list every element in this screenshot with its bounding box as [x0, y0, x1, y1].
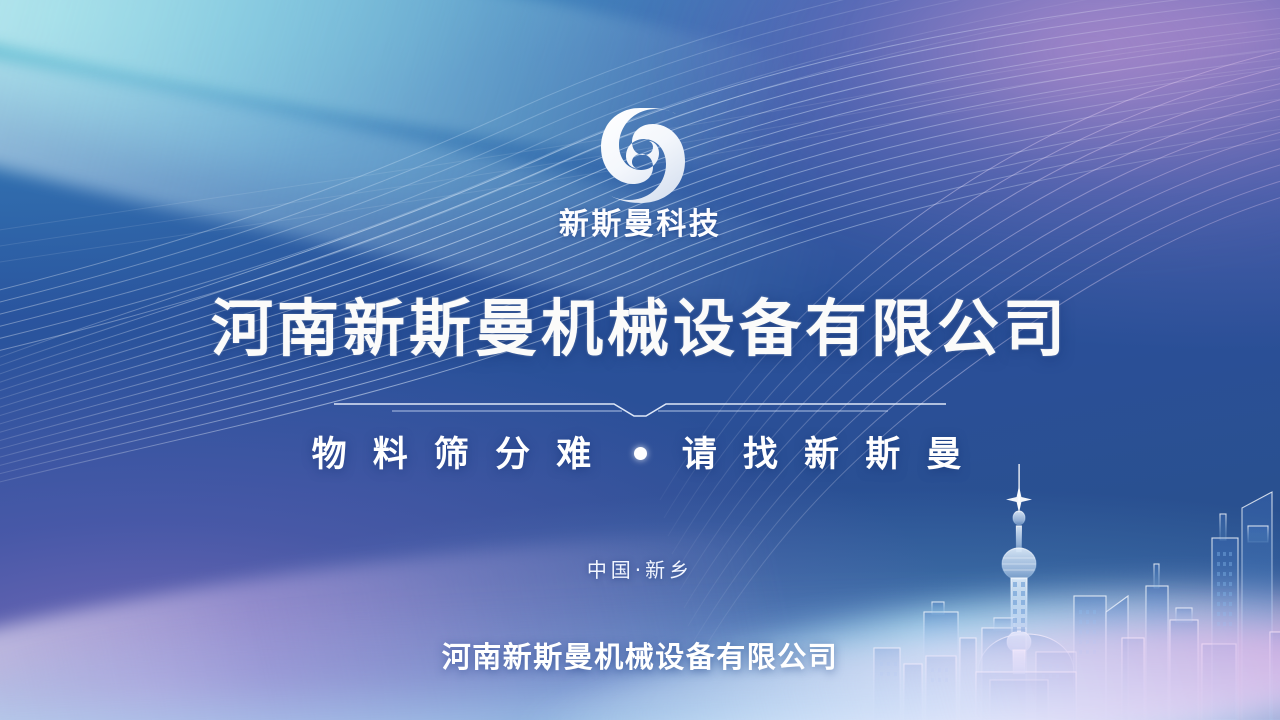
location-label: 中国·新乡	[0, 554, 1280, 583]
slide-content: 新斯曼科技 河南新斯曼机械设备有限公司 物 料 筛 分 难 请 找 新 斯 曼 …	[0, 0, 1280, 720]
swirl-s-logo-icon	[581, 104, 699, 204]
tagline-right: 请 找 新 斯 曼	[682, 435, 969, 475]
page-title: 河南新斯曼机械设备有限公司	[0, 296, 1280, 363]
ornamental-divider	[0, 392, 1280, 422]
logo-block: 新斯曼科技	[0, 104, 1280, 240]
footer-caption: 河南新斯曼机械设备有限公司	[0, 634, 1280, 676]
tagline: 物 料 筛 分 难 请 找 新 斯 曼	[0, 426, 1280, 477]
logo-wordmark: 新斯曼科技	[0, 210, 1280, 240]
bullet-separator-icon	[634, 447, 647, 460]
slide-canvas: 新斯曼科技 河南新斯曼机械设备有限公司 物 料 筛 分 难 请 找 新 斯 曼 …	[0, 0, 1280, 720]
tagline-left: 物 料 筛 分 难	[312, 435, 599, 475]
